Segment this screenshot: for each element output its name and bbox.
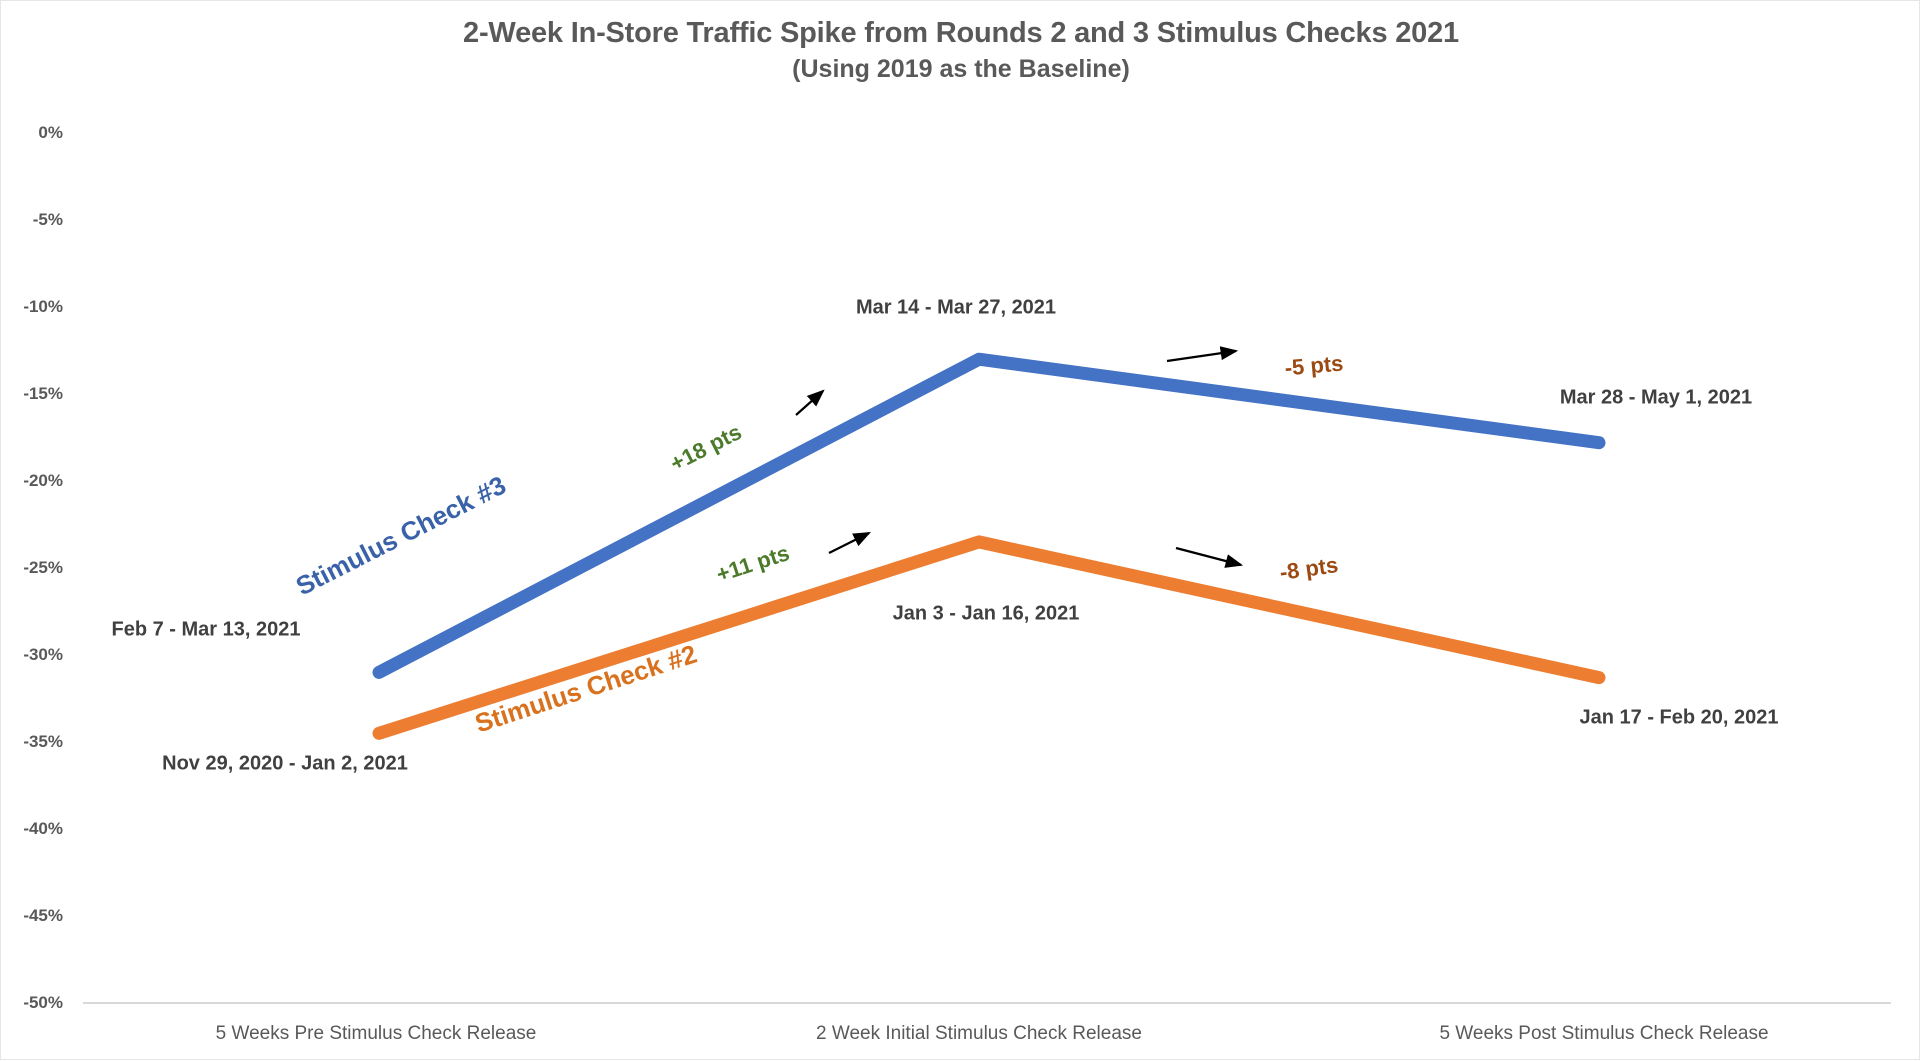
- point-label-series2-initial: Jan 3 - Jan 16, 2021: [893, 603, 1080, 626]
- point-label-series2-pre: Nov 29, 2020 - Jan 2, 2021: [162, 753, 408, 776]
- arrow-decrease-series3: [1167, 351, 1236, 361]
- arrow-increase-series3: [796, 391, 823, 415]
- point-label-series3-initial: Mar 14 - Mar 27, 2021: [856, 297, 1056, 320]
- chart-container: 2-Week In-Store Traffic Spike from Round…: [0, 0, 1920, 1060]
- plot-area: [1, 1, 1920, 1061]
- arrow-decrease-series2: [1176, 548, 1241, 565]
- delta-label-series3-decrease: -5 pts: [1284, 350, 1345, 381]
- point-label-series3-pre: Feb 7 - Mar 13, 2021: [112, 619, 301, 642]
- point-label-series3-post: Mar 28 - May 1, 2021: [1560, 387, 1752, 410]
- point-label-series2-post: Jan 17 - Feb 20, 2021: [1579, 707, 1778, 730]
- arrow-increase-series2: [829, 533, 869, 553]
